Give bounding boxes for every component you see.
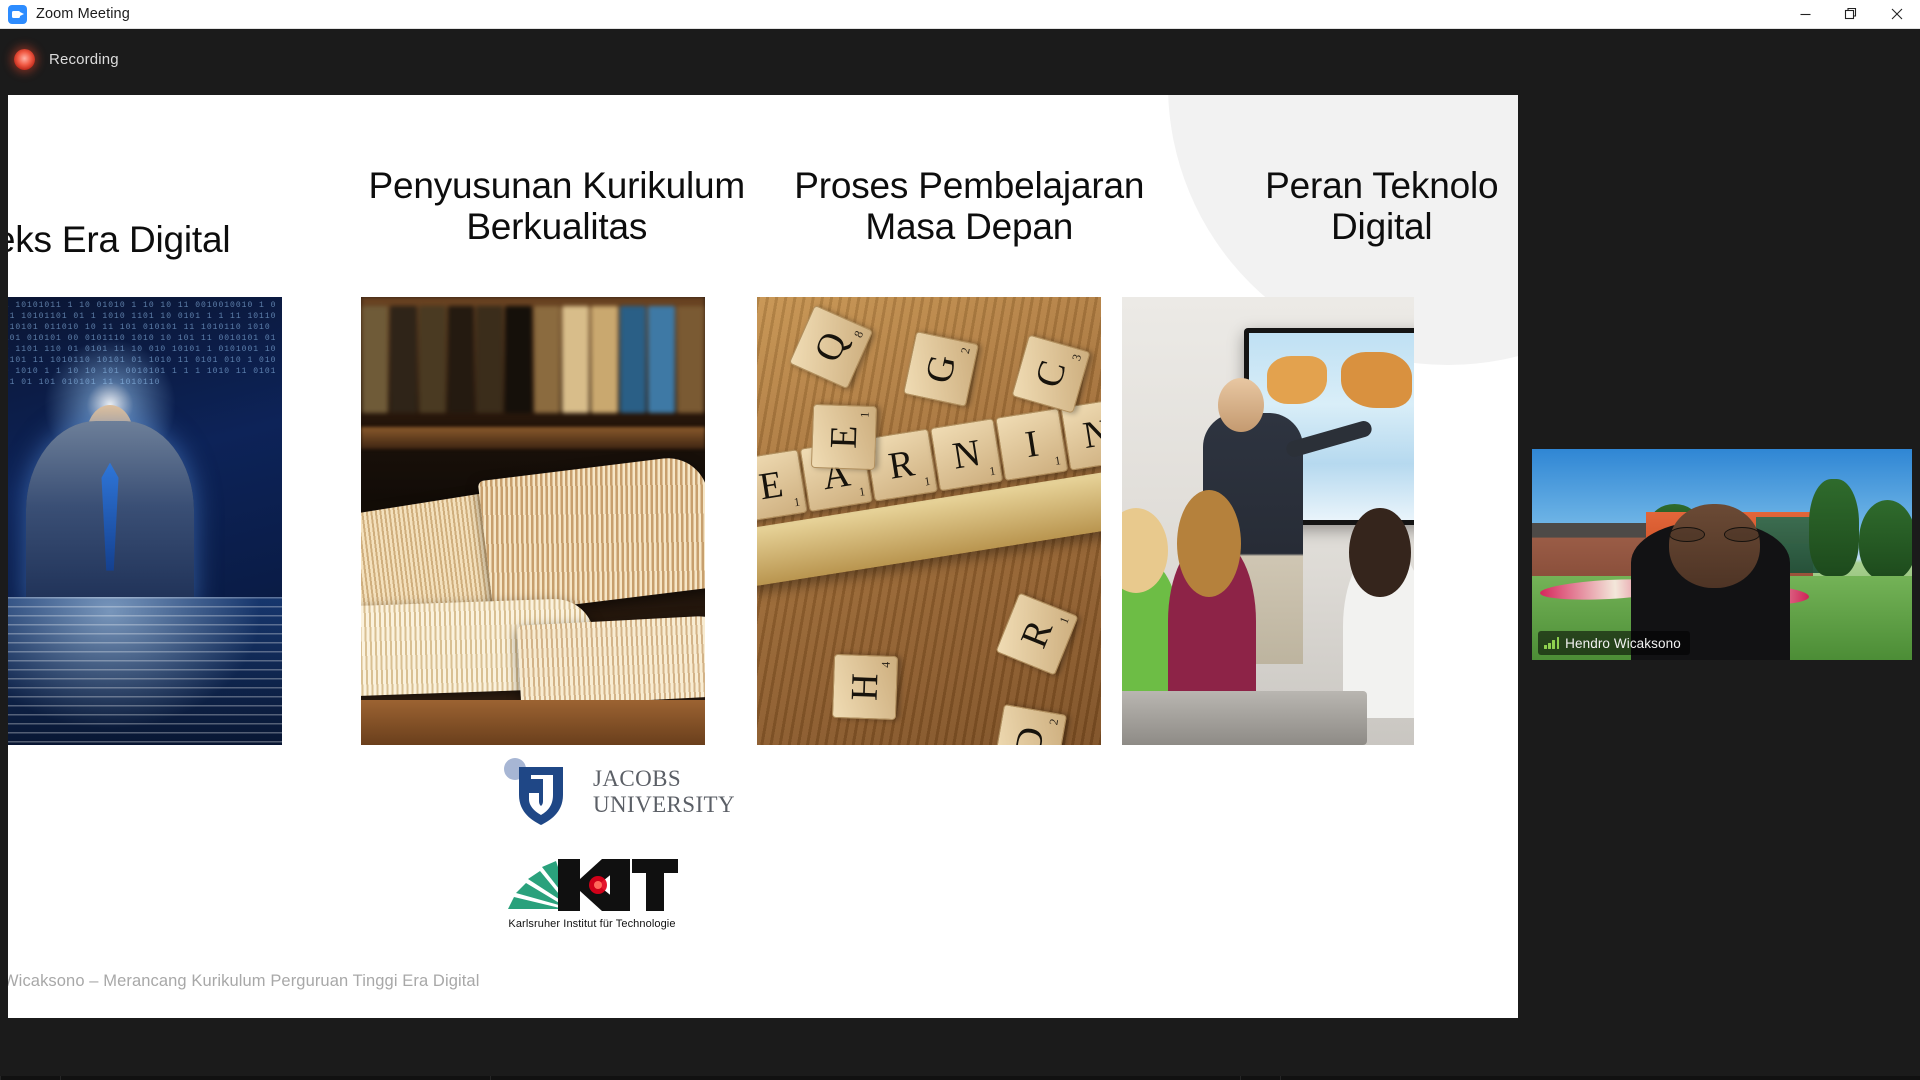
- glasses-icon: [1669, 527, 1760, 542]
- restore-icon: [1844, 7, 1858, 21]
- jacobs-shield-icon: [501, 755, 575, 829]
- participant-head: [1669, 504, 1760, 588]
- image-cell-1: 1101 01 11 1 10101011 1 10 01010 1 10 10…: [8, 297, 335, 745]
- shelf-board: [361, 427, 705, 449]
- scrabble-tile-loose: H4: [832, 654, 898, 720]
- background-tree: [1859, 500, 1912, 580]
- classroom-photo: [1122, 297, 1414, 745]
- slide-footer-text: Wicaksono – Merancang Kurikulum Pergurua…: [8, 972, 1513, 991]
- kit-wordmark: [506, 853, 678, 915]
- recording-label: Recording: [49, 51, 119, 68]
- student-2-hair: [1177, 490, 1241, 598]
- shared-screen-area[interactable]: onteks Era Digital Penyusunan Kurikulum …: [8, 95, 1518, 1018]
- digital-era-photo: 1101 01 11 1 10101011 1 10 01010 1 10 10…: [8, 297, 282, 745]
- close-icon: [1890, 7, 1904, 21]
- jacobs-university-label: JACOBS UNIVERSITY: [593, 766, 735, 818]
- close-button[interactable]: [1874, 0, 1920, 29]
- book-2: [477, 454, 705, 615]
- recording-status-bar: Recording: [0, 29, 1920, 90]
- classroom-table: [1122, 691, 1367, 745]
- water-ripples: [8, 597, 282, 745]
- window-controls: [1782, 0, 1920, 29]
- image-cell-3: E1 A1 R1 N1 I1 N1 Q8 G2 C3 E1 R1 H4 D2: [731, 297, 1128, 745]
- book-spines: [361, 306, 705, 414]
- wooden-desk: [361, 700, 705, 745]
- kit-tagline: Karlsruher Institut für Technologie: [508, 918, 675, 930]
- kit-mark-icon: [506, 853, 678, 915]
- participant-video-tile[interactable]: Hendro Wicaksono: [1532, 449, 1912, 660]
- scrabble-tile: I1: [995, 408, 1068, 481]
- column-title-3: Proses Pembelajaran Masa Depan: [763, 165, 1176, 315]
- book-4: [517, 614, 705, 706]
- scrabble-tile: E1: [757, 449, 807, 522]
- record-dot-icon[interactable]: [14, 49, 35, 70]
- bottom-toolbar-seams: [0, 1076, 1920, 1080]
- student-3-hair: [1349, 508, 1410, 598]
- column-title-4: Peran Teknolo Digital: [1176, 165, 1519, 315]
- slide-image-row: 1101 01 11 1 10101011 1 10 01010 1 10 10…: [8, 297, 1518, 745]
- window-title-bar: Zoom Meeting: [0, 0, 1920, 29]
- scrabble-tile-loose: E1: [811, 403, 877, 469]
- teacher-head: [1218, 378, 1264, 432]
- signal-bars-icon: [1544, 637, 1559, 649]
- zoom-video-icon: [8, 5, 27, 24]
- kit-logo: Karlsruher Institut für Technologie: [506, 853, 678, 930]
- scrabble-tile: N1: [930, 418, 1003, 491]
- image-cell-4: [1122, 297, 1519, 745]
- restore-button[interactable]: [1828, 0, 1874, 29]
- background-tree: [1809, 479, 1858, 576]
- slide-column-titles: onteks Era Digital Penyusunan Kurikulum …: [8, 165, 1518, 315]
- window-title: Zoom Meeting: [36, 6, 130, 22]
- column-title-2: Penyusunan Kurikulum Berkualitas: [351, 165, 764, 315]
- column-title-1: onteks Era Digital: [8, 165, 351, 315]
- scrabble-learning-photo: E1 A1 R1 N1 I1 N1 Q8 G2 C3 E1 R1 H4 D2: [757, 297, 1101, 745]
- minimize-button[interactable]: [1782, 0, 1828, 29]
- open-books-photo: [361, 297, 705, 745]
- image-cell-2: [335, 297, 732, 745]
- participant-name: Hendro Wicaksono: [1565, 636, 1681, 651]
- jacobs-university-logo: JACOBS UNIVERSITY: [501, 755, 735, 829]
- scrabble-tile-loose: G2: [903, 331, 979, 407]
- minimize-icon: [1799, 8, 1812, 21]
- participant-name-badge: Hendro Wicaksono: [1538, 631, 1690, 655]
